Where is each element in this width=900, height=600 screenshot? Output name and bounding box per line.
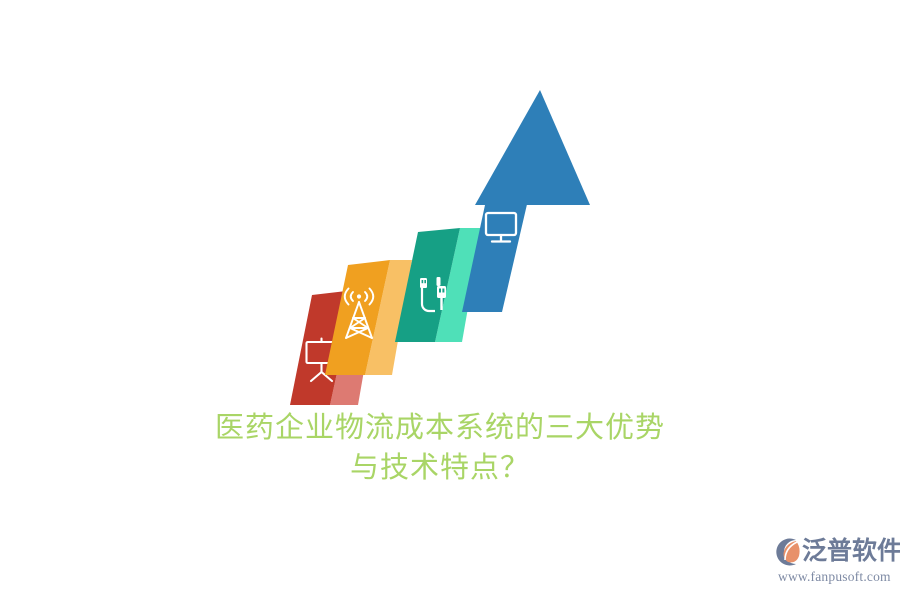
logo-url: www.fanpusoft.com [778,569,894,585]
fanpu-c-emblem-icon [766,536,800,568]
ascending-arrow-infographic [270,80,600,420]
page-title-line-1: 医药企业物流成本系统的三大优势 [0,408,880,448]
page-canvas: 医药企业物流成本系统的三大优势 与技术特点？ 泛普软件 www.fanpusof… [0,0,900,600]
brand-logo[interactable]: 泛普软件 www.fanpusoft.com [766,534,894,592]
logo-row: 泛普软件 [766,534,894,570]
arrow-head-blue [475,90,590,205]
page-title: 医药企业物流成本系统的三大优势 与技术特点？ [0,408,880,488]
logo-wordmark: 泛普软件 [802,536,900,568]
arrow-segment-orange [325,260,412,375]
page-title-line-2: 与技术特点？ [0,448,880,488]
arrow-segment-blue [462,90,590,312]
